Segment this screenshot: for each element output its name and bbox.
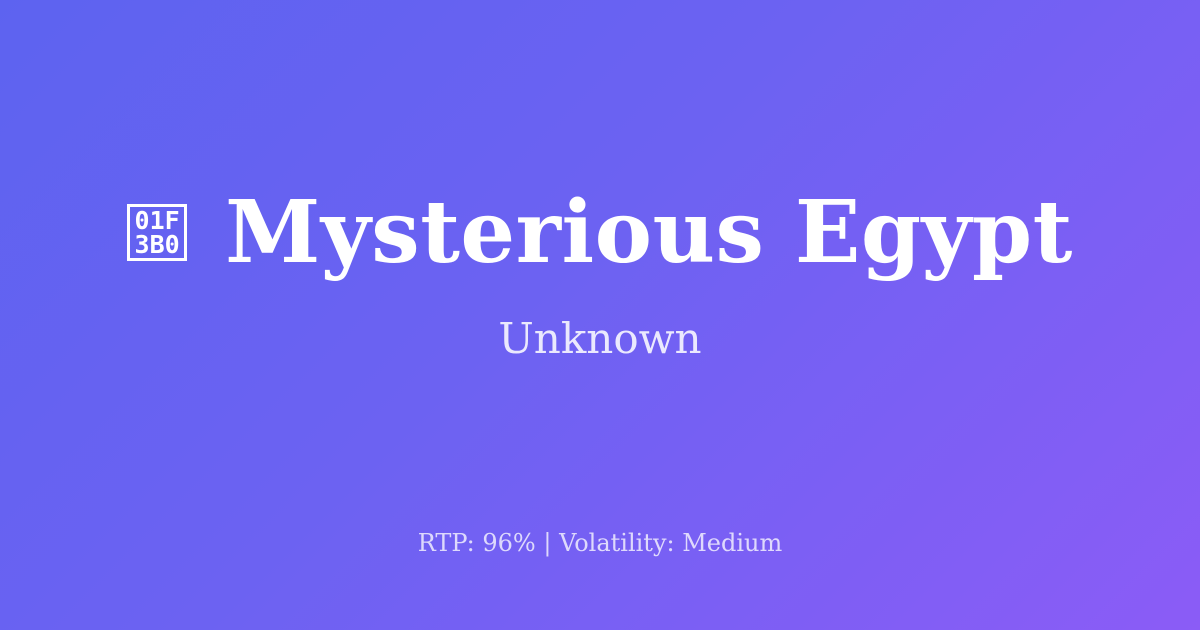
page-title: Mysterious Egypt: [225, 188, 1073, 278]
slot-machine-icon: 01F 3B0: [127, 204, 187, 261]
slot-machine-icon-codepoint-bottom: 3B0: [135, 233, 180, 257]
game-preview-card: 01F 3B0 Mysterious Egypt Unknown RTP: 96…: [0, 0, 1200, 630]
title-line: 01F 3B0 Mysterious Egypt: [0, 188, 1200, 278]
provider-subtitle: Unknown: [498, 314, 701, 364]
game-stats-line: RTP: 96% | Volatility: Medium: [0, 528, 1200, 559]
